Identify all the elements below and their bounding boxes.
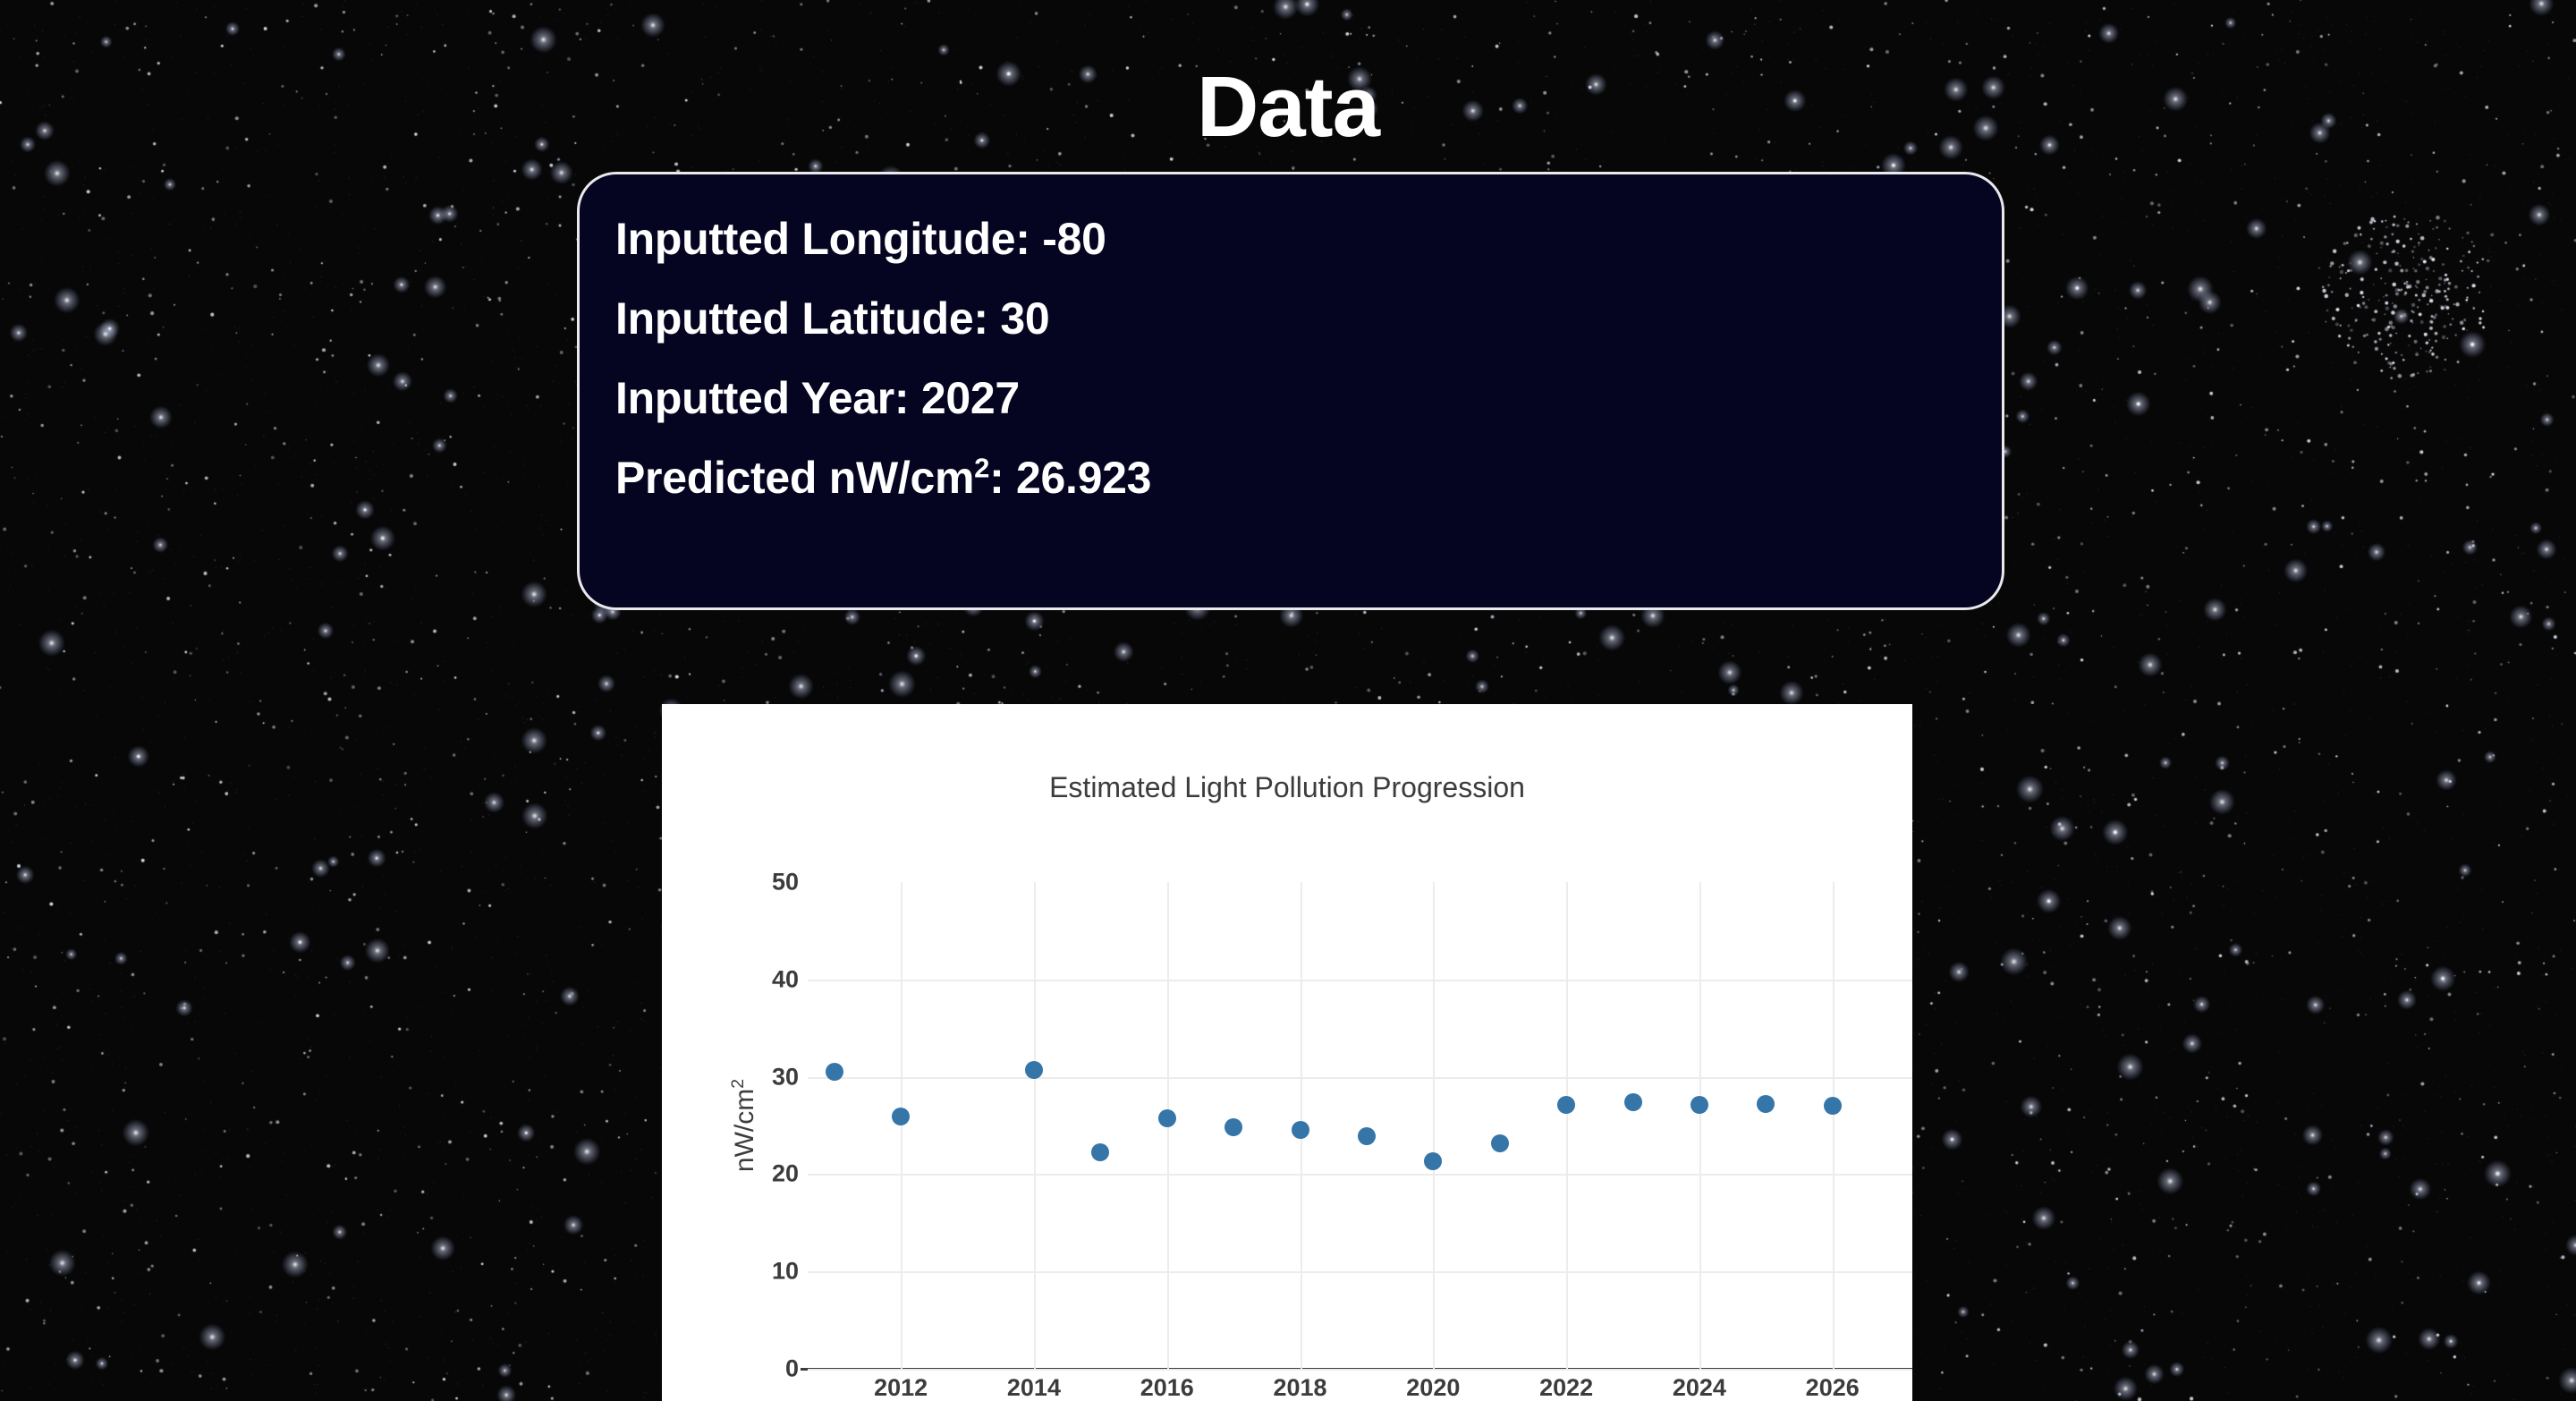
y-axis-tick-label: 20 bbox=[772, 1160, 799, 1188]
page-title: Data bbox=[0, 54, 2576, 161]
gridline-horizontal bbox=[808, 1077, 1912, 1079]
info-label-predicted-exponent: 2 bbox=[974, 452, 989, 483]
plot-area: nW/cm2 010203040502012201420162018202020… bbox=[808, 882, 1912, 1369]
info-row-longitude: Inputted Longitude: -80 bbox=[615, 200, 1966, 279]
gridline-horizontal bbox=[808, 1271, 1912, 1273]
x-axis-tick-label: 2012 bbox=[874, 1374, 928, 1401]
x-axis-tick-label: 2022 bbox=[1539, 1374, 1593, 1401]
chart-title: Estimated Light Pollution Progression bbox=[662, 771, 1912, 804]
scatter-point bbox=[1292, 1121, 1309, 1139]
scatter-point bbox=[826, 1063, 843, 1081]
x-axis-tick-label: 2014 bbox=[1007, 1374, 1061, 1401]
gridline-vertical bbox=[1034, 882, 1036, 1369]
info-value-year: 2027 bbox=[921, 373, 1020, 423]
scatter-point bbox=[1757, 1095, 1775, 1113]
x-axis-tick-label: 2020 bbox=[1406, 1374, 1460, 1401]
y-axis-tick-label: 50 bbox=[772, 869, 799, 896]
x-axis-tick-label: 2026 bbox=[1806, 1374, 1860, 1401]
gridline-vertical bbox=[901, 882, 902, 1369]
x-axis-tick-label: 2024 bbox=[1673, 1374, 1726, 1401]
scatter-point bbox=[1690, 1096, 1708, 1114]
gridline-vertical bbox=[1699, 882, 1701, 1369]
scatter-point bbox=[1224, 1118, 1242, 1136]
info-label-longitude: Inputted Longitude: bbox=[615, 214, 1030, 264]
scatter-point bbox=[1358, 1127, 1376, 1145]
scatter-point bbox=[1091, 1143, 1109, 1161]
info-value-longitude: -80 bbox=[1042, 214, 1106, 264]
info-label-year: Inputted Year: bbox=[615, 373, 909, 423]
info-row-predicted: Predicted nW/cm2: 26.923 bbox=[615, 438, 1966, 518]
info-label-latitude: Inputted Latitude: bbox=[615, 293, 988, 344]
scatter-point bbox=[1624, 1093, 1642, 1111]
x-axis-tick-label: 2018 bbox=[1273, 1374, 1326, 1401]
info-row-year: Inputted Year: 2027 bbox=[615, 359, 1966, 438]
gridline-horizontal bbox=[808, 1369, 1912, 1371]
info-colon-predicted: : bbox=[989, 453, 1004, 503]
gridline-vertical bbox=[1566, 882, 1568, 1369]
y-axis-tick-label: 10 bbox=[772, 1258, 799, 1286]
info-value-latitude: 30 bbox=[1000, 293, 1049, 344]
scatter-point bbox=[1158, 1109, 1176, 1127]
y-axis-tick-label: 0 bbox=[785, 1355, 799, 1383]
scatter-point bbox=[1025, 1061, 1043, 1079]
x-axis-tick-label: 2016 bbox=[1140, 1374, 1194, 1401]
gridline-horizontal bbox=[808, 1174, 1912, 1176]
y-axis-label-exponent: 2 bbox=[728, 1079, 748, 1089]
y-axis-tick-label: 40 bbox=[772, 965, 799, 993]
y-axis-tick-label: 30 bbox=[772, 1063, 799, 1091]
scatter-point bbox=[892, 1108, 910, 1125]
data-summary-card: Inputted Longitude: -80 Inputted Latitud… bbox=[577, 172, 2004, 610]
info-label-predicted: Predicted nW/cm bbox=[615, 453, 974, 503]
info-row-latitude: Inputted Latitude: 30 bbox=[615, 279, 1966, 359]
scatter-point bbox=[1557, 1096, 1575, 1114]
scatter-point bbox=[1824, 1097, 1842, 1115]
gridline-horizontal bbox=[808, 980, 1912, 981]
info-value-predicted: 26.923 bbox=[1016, 453, 1151, 503]
chart-panel: Estimated Light Pollution Progression nW… bbox=[662, 704, 1912, 1401]
y-axis-label: nW/cm2 bbox=[730, 1079, 760, 1172]
y-axis-label-text: nW/cm bbox=[730, 1089, 759, 1172]
scatter-point bbox=[1491, 1134, 1509, 1152]
gridline-vertical bbox=[1833, 882, 1835, 1369]
gridline-vertical bbox=[1433, 882, 1435, 1369]
scatter-point bbox=[1424, 1152, 1442, 1170]
